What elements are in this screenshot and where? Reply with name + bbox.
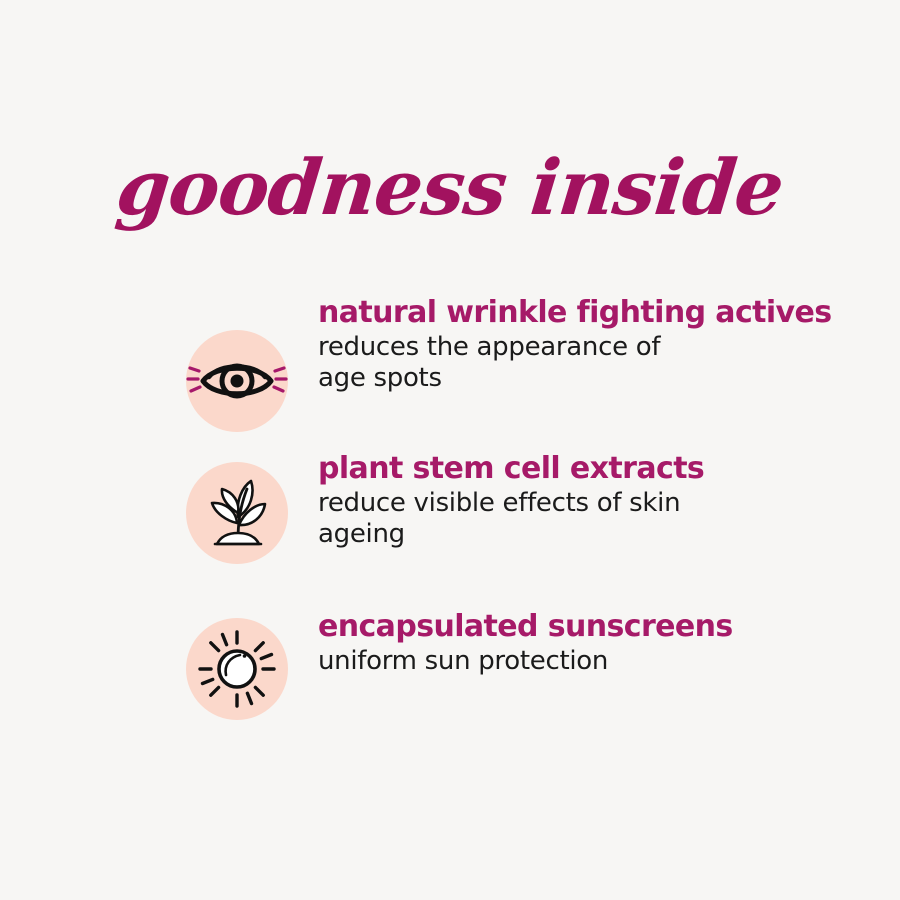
feature-item: plant stem cell extracts reduce visible … bbox=[0, 452, 900, 564]
feature-item: natural wrinkle fighting actives reduces… bbox=[0, 296, 900, 408]
feature-subtext: reduce visible effects of skin ageing bbox=[318, 488, 704, 551]
feature-text: natural wrinkle fighting actives reduces… bbox=[318, 296, 832, 395]
feature-list: natural wrinkle fighting actives reduces… bbox=[0, 296, 900, 722]
plant-sprout-icon bbox=[186, 462, 288, 564]
feature-heading: plant stem cell extracts bbox=[318, 452, 704, 486]
eye-wrinkle-icon bbox=[186, 330, 288, 432]
feature-item: encapsulated sunscreens uniform sun prot… bbox=[0, 610, 900, 722]
goodness-inside-poster: goodness inside bbox=[0, 0, 900, 900]
feature-text: plant stem cell extracts reduce visible … bbox=[318, 452, 704, 551]
feature-subtext: uniform sun protection bbox=[318, 646, 733, 678]
feature-text: encapsulated sunscreens uniform sun prot… bbox=[318, 610, 733, 677]
feature-heading: natural wrinkle fighting actives bbox=[318, 296, 832, 330]
feature-subtext: reduces the appearance of age spots bbox=[318, 332, 832, 395]
page-title-container: goodness inside bbox=[0, 150, 900, 226]
page-title: goodness inside bbox=[113, 150, 787, 226]
feature-heading: encapsulated sunscreens bbox=[318, 610, 733, 644]
sun-icon bbox=[186, 618, 288, 720]
